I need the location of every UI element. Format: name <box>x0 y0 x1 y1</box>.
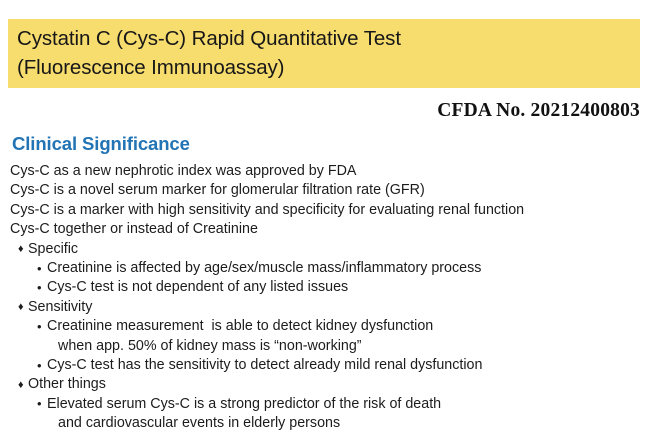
line-text: Cys-C as a new nephrotic index was appro… <box>10 163 356 179</box>
title-banner: Cystatin C (Cys-C) Rapid Quantitative Te… <box>8 19 640 88</box>
dot-bullet-icon: • <box>37 317 42 336</box>
line-text: Cys-C is a novel serum marker for glomer… <box>10 182 425 198</box>
section-heading-clinical-significance: Clinical Significance <box>12 133 190 155</box>
line-text: when app. 50% of kidney mass is “non-wor… <box>58 338 362 354</box>
dot-bullet-icon: • <box>37 394 42 413</box>
line-text: Cys-C test is not dependent of any liste… <box>47 279 348 295</box>
bullet-item-level1: ♦Specific <box>0 240 650 259</box>
title-line-1: Cystatin C (Cys-C) Rapid Quantitative Te… <box>17 24 640 53</box>
body-text-line: Cys-C is a novel serum marker for glomer… <box>0 181 650 200</box>
line-text: Creatinine measurement is able to detect… <box>47 318 433 334</box>
diamond-bullet-icon: ♦ <box>18 240 24 259</box>
line-text: Elevated serum Cys-C is a strong predict… <box>47 396 441 412</box>
line-text: Cys-C test has the sensitivity to detect… <box>47 357 482 373</box>
cfda-registration-number: CFDA No. 20212400803 <box>437 100 640 122</box>
diamond-bullet-icon: ♦ <box>18 298 24 317</box>
bullet-item-continuation: and cardiovascular events in elderly per… <box>0 414 650 433</box>
bullet-item-level1: ♦Other things <box>0 375 650 394</box>
bullet-item-level2: •Cys-C test has the sensitivity to detec… <box>0 356 650 375</box>
dot-bullet-icon: • <box>37 259 42 278</box>
line-text: Cys-C together or instead of Creatinine <box>10 221 258 237</box>
dot-bullet-icon: • <box>37 356 42 375</box>
title-line-2: (Fluorescence Immunoassay) <box>17 53 640 82</box>
bullet-item-level1: ♦Sensitivity <box>0 298 650 317</box>
dot-bullet-icon: • <box>37 278 42 297</box>
line-text: Cys-C is a marker with high sensitivity … <box>10 202 524 218</box>
body-text-line: Cys-C as a new nephrotic index was appro… <box>0 162 650 181</box>
line-text: Sensitivity <box>28 299 92 315</box>
body-text-line: Cys-C is a marker with high sensitivity … <box>0 201 650 220</box>
line-text: Other things <box>28 376 106 392</box>
bullet-item-level2: •Elevated serum Cys-C is a strong predic… <box>0 395 650 414</box>
bullet-item-level2: •Cys-C test is not dependent of any list… <box>0 278 650 297</box>
diamond-bullet-icon: ♦ <box>18 376 24 395</box>
bullet-item-level2: •Creatinine measurement is able to detec… <box>0 317 650 336</box>
clinical-significance-body: Cys-C as a new nephrotic index was appro… <box>0 162 650 434</box>
line-text: Specific <box>28 241 78 257</box>
body-text-line: Cys-C together or instead of Creatinine <box>0 220 650 239</box>
line-text: and cardiovascular events in elderly per… <box>58 415 340 431</box>
bullet-item-level2: •Creatinine is affected by age/sex/muscl… <box>0 259 650 278</box>
bullet-item-continuation: when app. 50% of kidney mass is “non-wor… <box>0 337 650 356</box>
line-text: Creatinine is affected by age/sex/muscle… <box>47 260 481 276</box>
